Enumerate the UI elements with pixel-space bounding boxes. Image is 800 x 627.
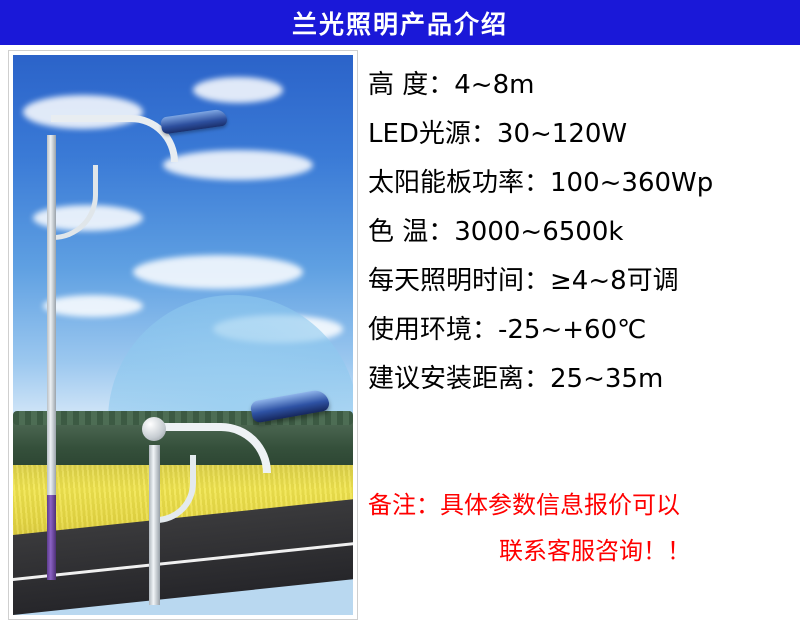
lamp-pole-base — [47, 495, 56, 580]
lamp-head — [160, 108, 228, 134]
spec-row-daily-lighting-time: 每天照明时间：≥4~8可调 — [368, 268, 792, 294]
spec-row-color-temperature: 色 温：3000~6500k — [368, 219, 792, 245]
spec-row-led-source: LED光源：30~120W — [368, 121, 792, 147]
remark-line-2: 联系客服咨询！！ — [368, 539, 792, 563]
remark-note: 备注：具体参数信息报价可以 联系客服咨询！！ — [368, 493, 792, 563]
lamp-pole — [149, 445, 160, 605]
page-title: 兰光照明产品介绍 — [292, 5, 508, 41]
remark-line-1: 备注：具体参数信息报价可以 — [368, 493, 792, 517]
product-image-panel — [8, 50, 358, 620]
spec-row-height: 高 度：4~8m — [368, 72, 792, 98]
header-banner: 兰光照明产品介绍 — [0, 0, 800, 45]
specification-list: 高 度：4~8m LED光源：30~120W 太阳能板功率：100~360Wp … — [368, 72, 792, 415]
spec-row-solar-panel-power: 太阳能板功率：100~360Wp — [368, 170, 792, 196]
cloud-icon — [193, 77, 283, 103]
spec-row-installation-distance: 建议安装距离：25~35m — [368, 366, 792, 392]
lamp-arm — [51, 115, 178, 162]
solar-street-light-photo — [13, 55, 353, 615]
lamp-ball-cap — [142, 417, 166, 441]
cloud-icon — [163, 150, 313, 180]
cloud-icon — [43, 295, 143, 317]
lamp-pole — [47, 135, 56, 555]
spec-row-operating-environment: 使用环境：-25~+60℃ — [368, 317, 792, 343]
product-intro-page: 兰光照明产品介绍 — [0, 0, 800, 627]
cloud-icon — [133, 255, 303, 289]
